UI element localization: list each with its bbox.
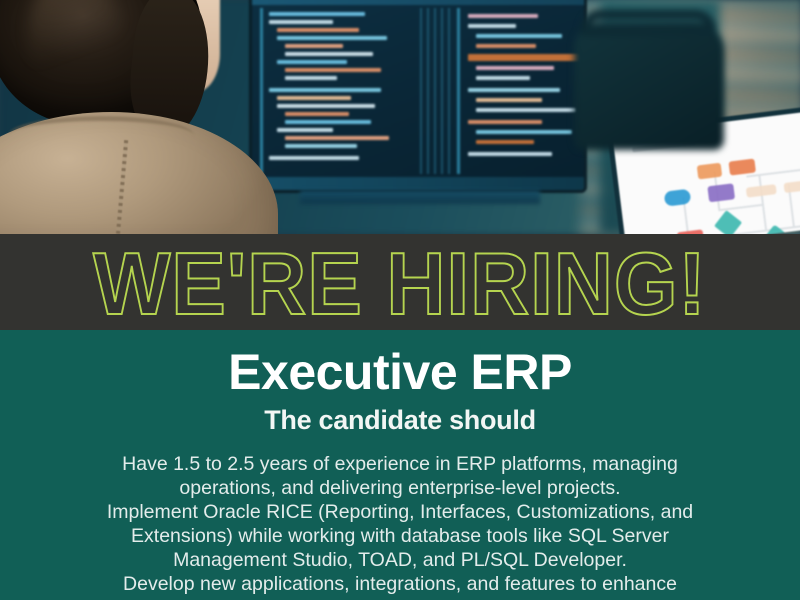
requirement-item: Develop new applications, integrations, … — [100, 572, 700, 600]
editor-left-pane — [260, 8, 415, 174]
chair-backrest — [574, 22, 724, 150]
office-chair — [566, 0, 746, 148]
requirement-item: Implement Oracle RICE (Reporting, Interf… — [100, 500, 700, 572]
sweater-collar — [8, 116, 194, 155]
code-editor-monitor — [252, 0, 584, 190]
hiring-poster: WE'RE HIRING! Executive ERP The candidat… — [0, 0, 800, 600]
headline-text: WE'RE HIRING! — [93, 242, 707, 322]
chair-frame — [580, 10, 716, 36]
hero-photo — [0, 0, 800, 234]
person-silhouette — [0, 0, 272, 234]
editor-title-bar — [252, 0, 584, 5]
job-title: Executive ERP — [0, 330, 800, 399]
editor-gutter — [420, 8, 450, 174]
editor-status-bar — [252, 177, 584, 190]
requirements-list: Have 1.5 to 2.5 years of experience in E… — [0, 436, 800, 600]
requirement-item: Have 1.5 to 2.5 years of experience in E… — [100, 452, 700, 500]
job-details-panel: Executive ERP The candidate should Have … — [0, 330, 800, 600]
requirements-subtitle: The candidate should — [0, 399, 800, 436]
monitor-stand — [300, 190, 540, 204]
editor-right-pane — [457, 8, 582, 174]
headline-band: WE'RE HIRING! — [0, 234, 800, 330]
